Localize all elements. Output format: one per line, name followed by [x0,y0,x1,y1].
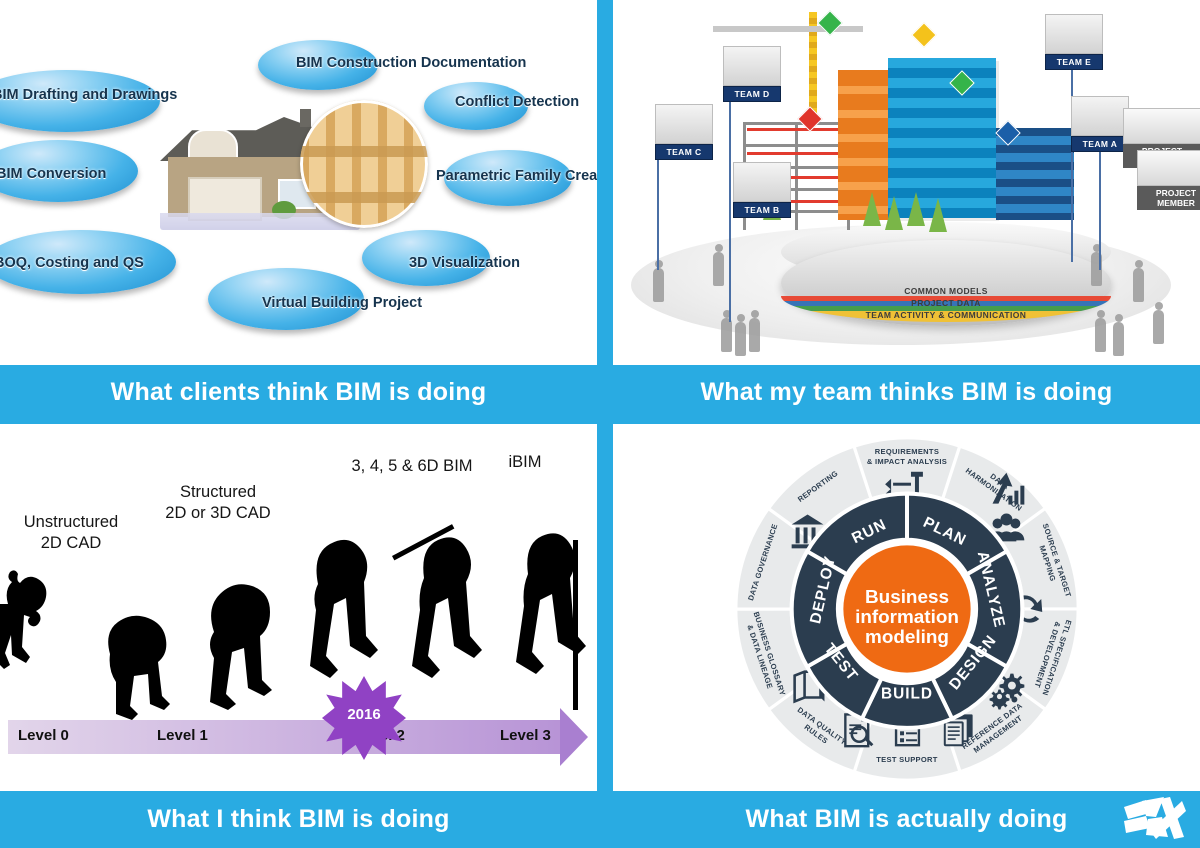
team-card-a[interactable]: TEAM A [1071,96,1129,152]
bubble-label-4: BIM Conversion [0,166,106,182]
team-name-3: TEAM E [1045,54,1103,70]
bubble-label-5: BOQ, Costing and QS [0,255,144,271]
bubble-label-3: Parametric Family Creation [436,168,597,184]
meme-board: BIM Drafting and Drawings BIM Constructi… [0,0,1200,848]
person-figure [653,268,664,302]
team-thumb [733,162,791,202]
panel-team-thinks: COMMON MODELS PROJECT DATA TEAM ACTIVITY… [613,0,1200,365]
person-figure [735,322,746,356]
member-thumb [1123,108,1200,144]
tree-icon [929,198,947,232]
team-card-e[interactable]: TEAM E [1045,14,1103,70]
outer-label-0-l1: REQUIREMENTS [875,447,939,456]
disc-layer-1: PROJECT DATA [781,298,1111,308]
team-connector [1099,150,1101,270]
year-marker-label: 2016 [322,706,406,723]
panel-i-think: Unstructured 2D CAD Structured 2D or 3D … [0,424,597,791]
bubble-label-1: BIM Construction Documentation [296,55,526,71]
outer-label-0-l2: & IMPACT ANALYSIS [867,457,947,466]
team-name-2: TEAM B [733,202,791,218]
banner-clients-think-text: What clients think BIM is doing [111,378,487,407]
banner-clients-think: What clients think BIM is doing [0,365,597,420]
banner-i-think-text: What I think BIM is doing [147,805,449,834]
tree-icon [863,192,881,226]
level-arrow-head [560,708,588,766]
hub-line-2: information [855,607,959,628]
banner-i-think: What I think BIM is doing [0,791,597,848]
person-figure [721,318,732,352]
tree-icon [907,192,925,226]
team-name-1: TEAM D [723,86,781,102]
person-figure [1153,310,1164,344]
person-figure [749,318,760,352]
person-figure [1095,318,1106,352]
person-figure [1133,268,1144,302]
bim-x-logo[interactable] [1116,795,1188,843]
building-blue-tower [888,58,996,218]
tree-icon [885,196,903,230]
bim-wheel-diagram: REQUIREMENTS & IMPACT ANALYSIS DATA HARM… [683,430,1131,788]
team-card-d[interactable]: TEAM D [723,46,781,102]
team-name-0: TEAM C [655,144,713,160]
bubble-label-6: Virtual Building Project [262,295,422,311]
stage-label-2-line1: 3, 4, 5 & 6D BIM [351,457,472,475]
level-label-1: Level 1 [157,727,208,744]
team-thumb [723,46,781,86]
revit-tag-yellow [911,22,936,47]
team-thumb [1045,14,1103,54]
stage-label-3-line1: iBIM [509,453,542,471]
member-thumb [1137,150,1200,186]
banner-bim-actually-text: What BIM is actually doing [746,805,1068,834]
evolution-silhouettes [0,474,597,724]
panel-bim-actually: REQUIREMENTS & IMPACT ANALYSIS DATA HARM… [613,424,1200,791]
outer-label-5: TEST SUPPORT [876,755,938,764]
bubble-label-2: Conflict Detection [455,94,579,110]
team-name-4: TEAM A [1071,136,1129,152]
banner-team-thinks-text: What my team thinks BIM is doing [701,378,1113,407]
level-progress-bar [8,720,568,754]
disc-layer-0: COMMON MODELS [781,286,1111,296]
team-thumb [655,104,713,144]
hub-line-1: Business [865,587,949,608]
banner-team-thinks: What my team thinks BIM is doing [613,365,1200,420]
team-connector [729,162,731,322]
level-label-3: Level 3 [500,727,551,744]
banner-bim-actually: What BIM is actually doing [613,791,1200,848]
crane-jib [713,26,863,32]
team-card-b[interactable]: TEAM B [733,162,791,218]
disc-layer-2: TEAM ACTIVITY & COMMUNICATION [781,310,1111,320]
stage-label-3: iBIM [470,452,580,473]
hub-line-3: modeling [865,627,949,648]
team-thumb [1071,96,1129,136]
team-connector [657,146,659,270]
person-figure [713,252,724,286]
person-figure [1113,322,1124,356]
inner-label-build: BUILD [881,686,933,703]
project-member-card-2[interactable]: PROJECT MEMBER [1137,150,1200,210]
level-label-0: Level 0 [18,727,69,744]
panel-clients-think: BIM Drafting and Drawings BIM Constructi… [0,0,597,365]
member-name-1: PROJECT MEMBER [1137,186,1200,210]
bubble-label-7: 3D Visualization [409,255,520,271]
bubble-label-0: BIM Drafting and Drawings [0,87,177,103]
timber-frame-photo [300,100,428,228]
team-card-c[interactable]: TEAM C [655,104,713,160]
